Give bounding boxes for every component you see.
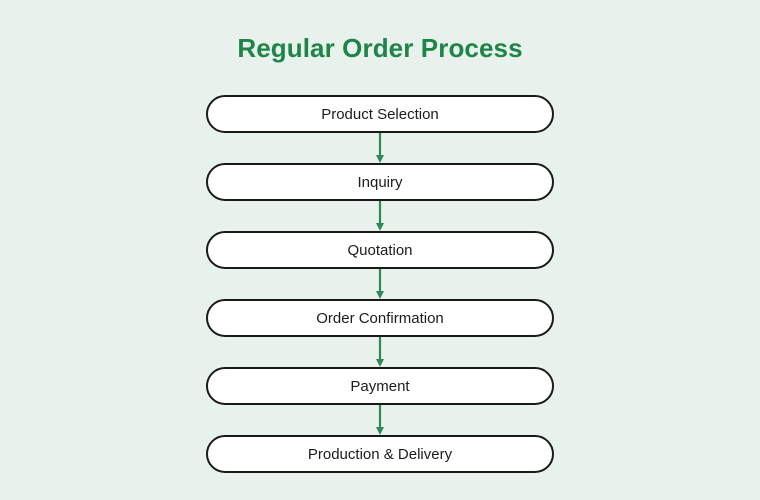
flow-step-label: Order Confirmation [316, 311, 444, 326]
flow-step-product-selection[interactable]: Product Selection [206, 95, 554, 133]
page-title: Regular Order Process [0, 34, 760, 63]
flow-step-label: Product Selection [321, 107, 439, 122]
flow-connector-4 [206, 337, 554, 367]
flow-step-stack: Product Selection Inquiry Quotation [206, 95, 554, 473]
flow-step-production-delivery[interactable]: Production & Delivery [206, 435, 554, 473]
arrow-down-icon [373, 201, 387, 231]
flow-connector-2 [206, 201, 554, 231]
arrow-down-icon [373, 269, 387, 299]
flow-step-label: Quotation [347, 243, 412, 258]
flow-step-payment[interactable]: Payment [206, 367, 554, 405]
flow-connector-1 [206, 133, 554, 163]
flow-step-label: Production & Delivery [308, 447, 452, 462]
flow-step-order-confirmation[interactable]: Order Confirmation [206, 299, 554, 337]
flow-step-label: Inquiry [357, 175, 402, 190]
flow-step-quotation[interactable]: Quotation [206, 231, 554, 269]
arrow-down-icon [373, 133, 387, 163]
flow-step-inquiry[interactable]: Inquiry [206, 163, 554, 201]
arrow-down-icon [373, 337, 387, 367]
flow-step-label: Payment [350, 379, 409, 394]
flow-connector-3 [206, 269, 554, 299]
arrow-down-icon [373, 405, 387, 435]
flowchart-canvas: Regular Order Process Product Selection … [0, 0, 760, 500]
flow-connector-5 [206, 405, 554, 435]
